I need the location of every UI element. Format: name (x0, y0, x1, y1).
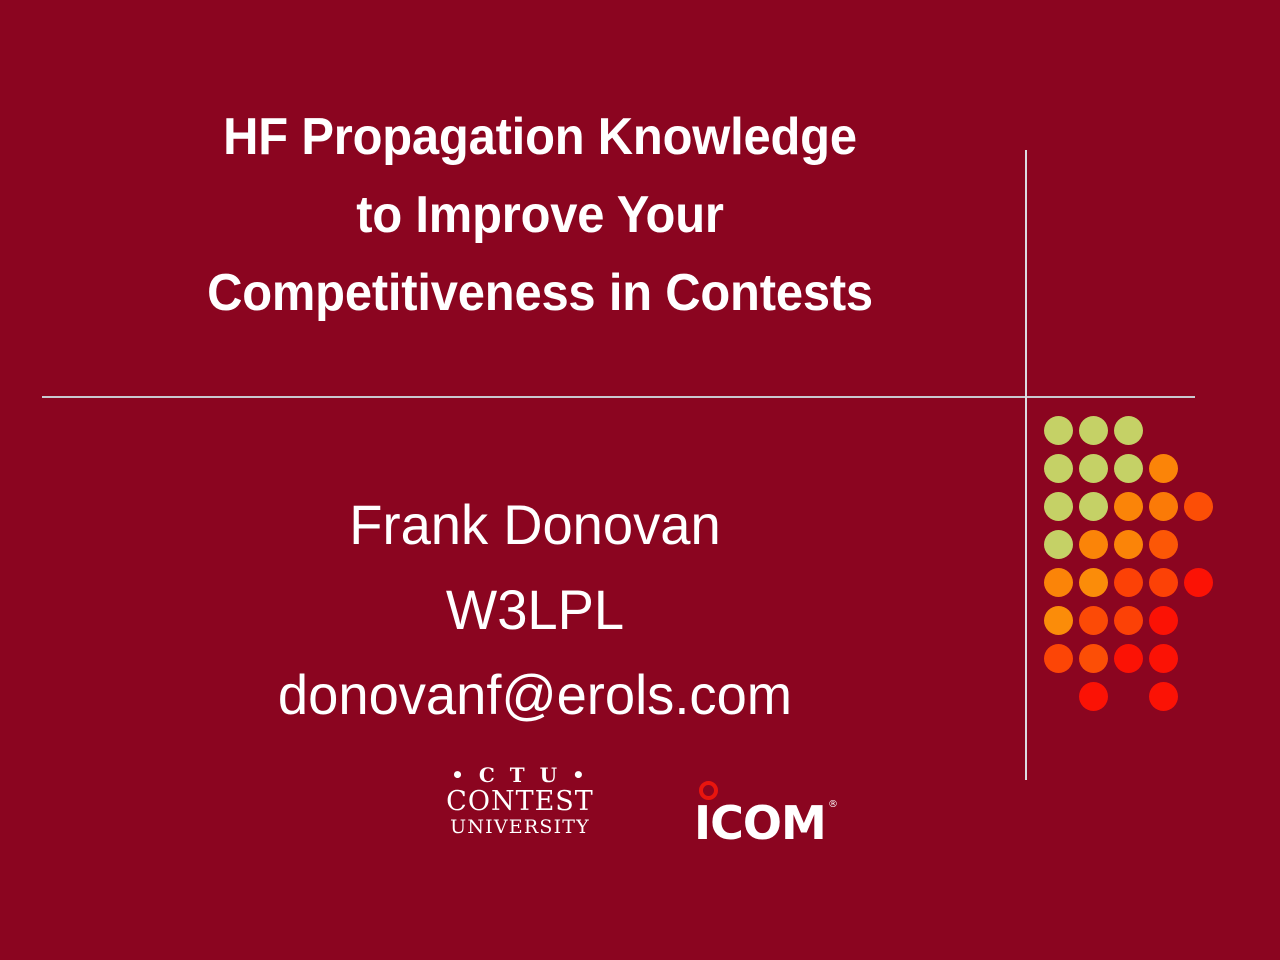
dot-matrix-row (1044, 492, 1254, 530)
dot-matrix-dot (1149, 682, 1178, 711)
dot-matrix-dot (1044, 568, 1073, 597)
dot-matrix-dot (1044, 644, 1073, 673)
dot-matrix-row (1044, 454, 1254, 492)
dot-matrix-decoration (1044, 416, 1254, 736)
dot-matrix-dot (1079, 530, 1108, 559)
dot-matrix-dot (1114, 492, 1143, 521)
slide-title: HF Propagation Knowledge to Improve Your… (60, 98, 1020, 332)
dot-matrix-dot (1044, 454, 1073, 483)
dot-matrix-dot (1079, 606, 1108, 635)
dot-matrix-dot (1044, 492, 1073, 521)
dot-matrix-row (1044, 530, 1254, 568)
dot-matrix-dot (1079, 682, 1108, 711)
dot-matrix-row (1044, 644, 1254, 682)
dot-matrix-dot (1079, 416, 1108, 445)
ctu-contest-label: CONTEST (430, 787, 610, 817)
dot-matrix-dot (1114, 530, 1143, 559)
dot-matrix-dot (1114, 568, 1143, 597)
dot-matrix-dot (1079, 568, 1108, 597)
vertical-divider-rule (1025, 150, 1027, 780)
ctu-university-label: UNIVERSITY (430, 817, 610, 839)
title-line-1: HF Propagation Knowledge (89, 98, 991, 176)
dot-matrix-dot (1044, 530, 1073, 559)
dot-matrix-dot (1149, 530, 1178, 559)
dot-matrix-dot (1149, 492, 1178, 521)
title-line-3: Competitiveness in Contests (89, 254, 991, 332)
dot-matrix-dot (1114, 644, 1143, 673)
icom-trademark-symbol: ® (828, 800, 838, 810)
dot-matrix-dot (1184, 492, 1213, 521)
dot-matrix-row (1044, 606, 1254, 644)
title-line-2: to Improve Your (89, 176, 991, 254)
dot-matrix-dot (1044, 606, 1073, 635)
dot-matrix-dot (1044, 416, 1073, 445)
dot-matrix-dot (1079, 644, 1108, 673)
dot-matrix-dot (1114, 416, 1143, 445)
icom-wordmark: ICOM (694, 800, 826, 846)
dot-matrix-dot (1184, 568, 1213, 597)
contest-university-logo: • C T U • CONTEST UNIVERSITY (430, 764, 610, 839)
dot-matrix-row (1044, 416, 1254, 454)
dot-matrix-dot (1149, 454, 1178, 483)
dot-matrix-dot (1114, 606, 1143, 635)
dot-matrix-row (1044, 568, 1254, 606)
dot-matrix-dot (1079, 492, 1108, 521)
dot-matrix-dot (1149, 606, 1178, 635)
dot-matrix-dot (1149, 644, 1178, 673)
presentation-slide: HF Propagation Knowledge to Improve Your… (0, 0, 1280, 960)
author-name: Frank Donovan (69, 482, 1000, 567)
author-email: donovanf@erols.com (69, 652, 1000, 737)
dot-matrix-row (1044, 682, 1254, 720)
dot-matrix-dot (1114, 454, 1143, 483)
icom-logo: ICOM ® (694, 778, 854, 848)
horizontal-divider-rule (42, 396, 1195, 398)
slide-subtitle-author: Frank Donovan W3LPL donovanf@erols.com (55, 482, 1015, 737)
dot-matrix-dot (1149, 568, 1178, 597)
author-callsign: W3LPL (69, 567, 1000, 652)
dot-matrix-dot (1079, 454, 1108, 483)
ctu-acronym-label: • C T U • (430, 764, 610, 787)
